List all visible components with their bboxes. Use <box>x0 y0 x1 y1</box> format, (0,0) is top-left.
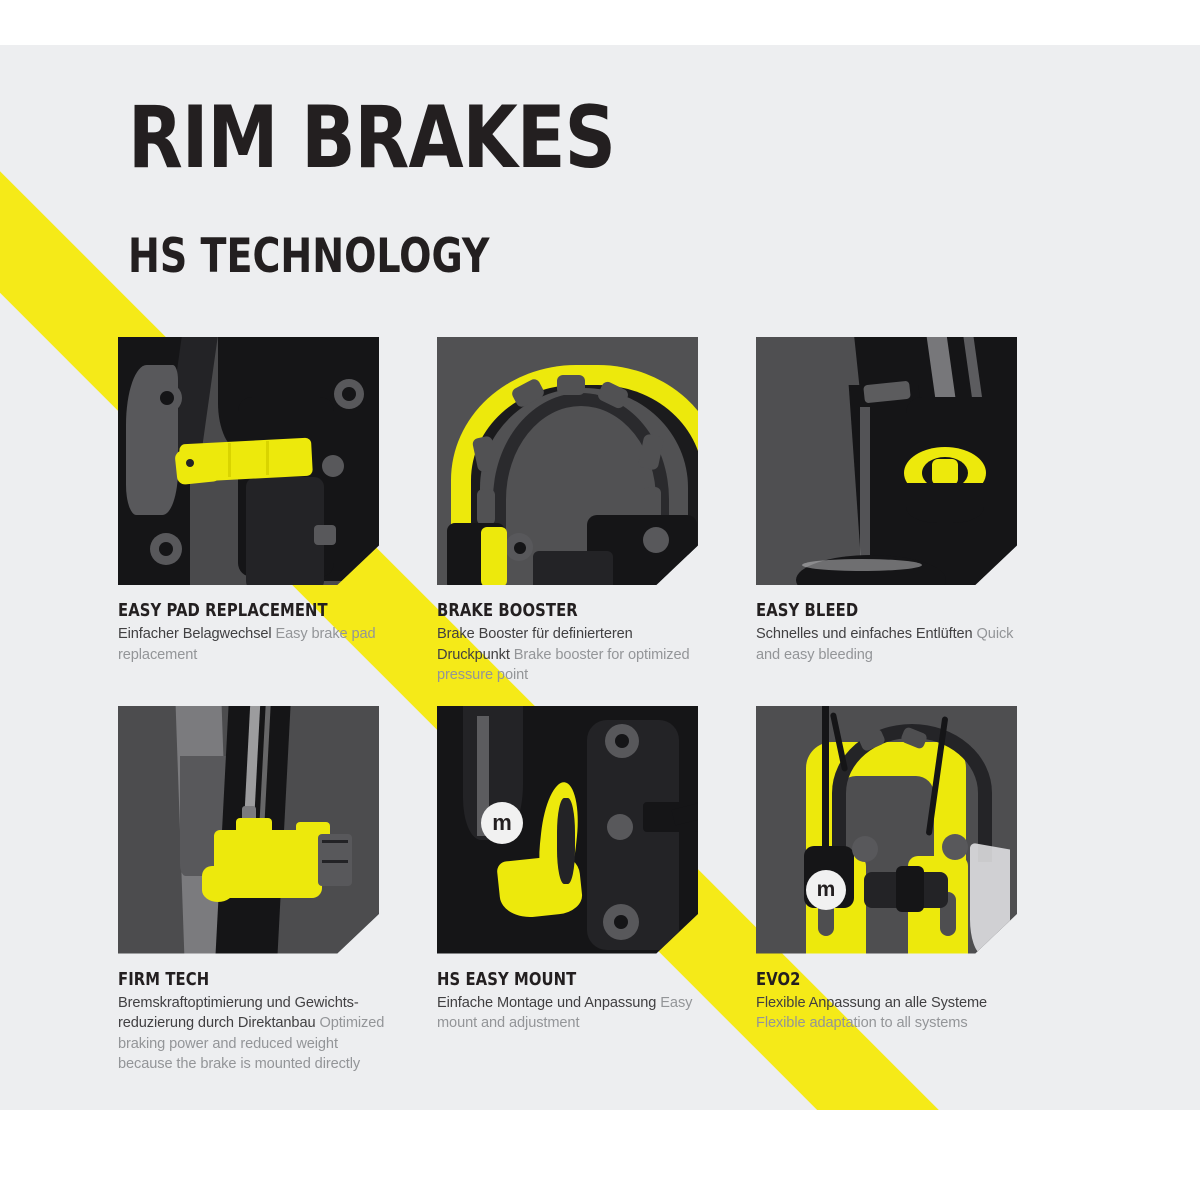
feature-grid: EASY PAD REPLACEMENT Einfacher Belagwech… <box>118 337 1084 1075</box>
content-panel: RIM BRAKES HS TECHNOLOGY <box>0 45 1200 1110</box>
brand-logo-badge: m <box>481 802 523 844</box>
feature-card-easy-pad-replacement[interactable]: EASY PAD REPLACEMENT Einfacher Belagwech… <box>118 337 379 686</box>
feature-caption-firm-tech: FIRM TECH Bremskraftoptimierung und Gewi… <box>118 970 386 1075</box>
feature-description: Schnelles und einfaches Entlüften Quick … <box>756 624 1024 665</box>
feature-image-easy-bleed <box>756 337 1017 585</box>
page-subtitle: HS TECHNOLOGY <box>128 233 604 280</box>
feature-description-de: Flexible Anpassung an alle Systeme <box>756 995 987 1011</box>
feature-image-hs-easy-mount: m <box>437 706 698 954</box>
brand-logo-letter: m <box>492 810 512 836</box>
feature-image-easy-pad-replacement <box>118 337 379 585</box>
feature-description: Flexible Anpassung an alle Systeme Flexi… <box>756 993 1024 1034</box>
poster-page: RIM BRAKES HS TECHNOLOGY <box>0 0 1200 1200</box>
feature-description-de: Einfacher Belagwechsel <box>118 626 272 642</box>
feature-card-brake-booster[interactable]: BRAKE BOOSTER Brake Booster für definier… <box>437 337 698 686</box>
feature-title: EVO2 <box>756 970 1008 990</box>
feature-title: EASY BLEED <box>756 601 1008 621</box>
feature-caption-evo2: EVO2 Flexible Anpassung an alle Systeme … <box>756 970 1024 1034</box>
feature-image-firm-tech <box>118 706 379 954</box>
feature-description: Einfacher Belagwechsel Easy brake pad re… <box>118 624 386 665</box>
feature-card-firm-tech[interactable]: FIRM TECH Bremskraftoptimierung und Gewi… <box>118 706 379 1075</box>
page-title: RIM BRAKES <box>128 95 615 181</box>
feature-description-de: Schnelles und einfaches Entlüften <box>756 626 973 642</box>
feature-description: Brake Booster für definierteren Druckpun… <box>437 624 705 686</box>
feature-caption-easy-pad-replacement: EASY PAD REPLACEMENT Einfacher Belagwech… <box>118 601 386 665</box>
feature-title: EASY PAD REPLACEMENT <box>118 601 370 621</box>
feature-description: Einfache Montage und Anpassung Easy moun… <box>437 993 705 1034</box>
feature-caption-easy-bleed: EASY BLEED Schnelles und einfaches Entlü… <box>756 601 1024 665</box>
feature-row-1: EASY PAD REPLACEMENT Einfacher Belagwech… <box>118 337 1084 686</box>
feature-description-en: Flexible adaptation to all systems <box>756 1015 968 1031</box>
feature-card-evo2[interactable]: m EVO2 Flexible Anpassung an alle System… <box>756 706 1017 1075</box>
poster-content: RIM BRAKES HS TECHNOLOGY <box>0 45 1200 1110</box>
feature-title: BRAKE BOOSTER <box>437 601 689 621</box>
feature-row-2: FIRM TECH Bremskraftoptimierung und Gewi… <box>118 706 1084 1075</box>
feature-title: FIRM TECH <box>118 970 370 990</box>
feature-card-easy-bleed[interactable]: EASY BLEED Schnelles und einfaches Entlü… <box>756 337 1017 686</box>
feature-caption-hs-easy-mount: HS EASY MOUNT Einfache Montage und Anpas… <box>437 970 705 1034</box>
brand-logo-badge: m <box>806 870 846 910</box>
feature-description-de: Einfache Montage und Anpassung <box>437 995 656 1011</box>
feature-description: Bremskraftoptimierung und Gewichts-reduz… <box>118 993 386 1075</box>
feature-title: HS EASY MOUNT <box>437 970 689 990</box>
feature-caption-brake-booster: BRAKE BOOSTER Brake Booster für definier… <box>437 601 705 686</box>
brand-logo-letter: m <box>817 878 836 902</box>
heading-block: RIM BRAKES HS TECHNOLOGY <box>128 95 657 280</box>
feature-image-brake-booster <box>437 337 698 585</box>
feature-image-evo2: m <box>756 706 1017 954</box>
feature-card-hs-easy-mount[interactable]: m <box>437 706 698 1075</box>
